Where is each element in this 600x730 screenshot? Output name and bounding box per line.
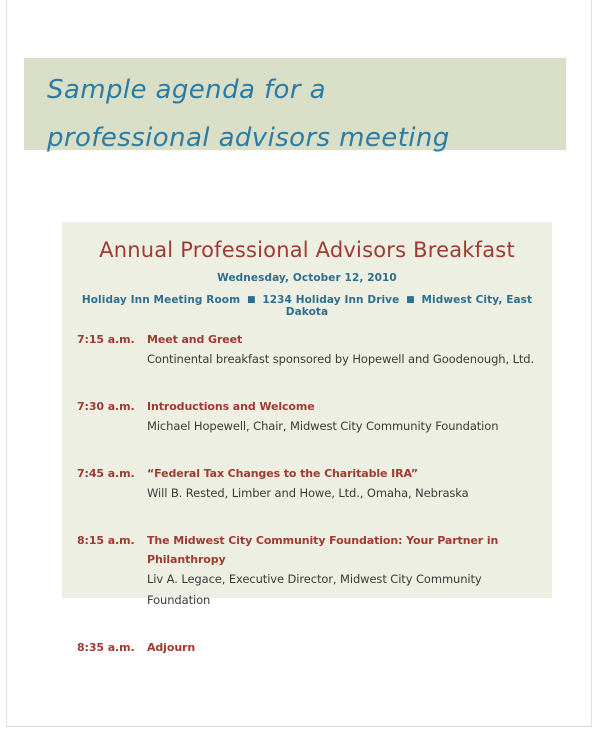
agenda-row-body: Introductions and Welcome Michael Hopewe… bbox=[147, 397, 547, 437]
agenda-row-time: 8:15 a.m. bbox=[77, 531, 147, 550]
agenda-row-body: “Federal Tax Changes to the Charitable I… bbox=[147, 464, 547, 504]
venue-part-room: Holiday Inn Meeting Room bbox=[82, 294, 240, 306]
document-page: Sample agenda for a professional advisor… bbox=[6, 0, 592, 727]
square-bullet-icon: ■ bbox=[403, 295, 418, 305]
agenda-row-title: Adjourn bbox=[147, 638, 547, 657]
agenda-rows: 7:15 a.m. Meet and Greet Continental bre… bbox=[77, 330, 547, 684]
agenda-row-time: 7:30 a.m. bbox=[77, 397, 147, 416]
square-bullet-icon: ■ bbox=[244, 295, 259, 305]
agenda-title: Annual Professional Advisors Breakfast bbox=[62, 238, 552, 262]
agenda-row: 7:45 a.m. “Federal Tax Changes to the Ch… bbox=[77, 464, 547, 504]
agenda-row-title: The Midwest City Community Foundation: Y… bbox=[147, 531, 547, 569]
agenda-venue: Holiday Inn Meeting Room ■ 1234 Holiday … bbox=[62, 294, 552, 318]
agenda-row-title: “Federal Tax Changes to the Charitable I… bbox=[147, 464, 547, 483]
agenda-row-title: Meet and Greet bbox=[147, 330, 547, 349]
agenda-row-body: The Midwest City Community Foundation: Y… bbox=[147, 531, 547, 611]
agenda-row: 7:15 a.m. Meet and Greet Continental bre… bbox=[77, 330, 547, 370]
agenda-row: 8:35 a.m. Adjourn bbox=[77, 638, 547, 657]
agenda-row: 7:30 a.m. Introductions and Welcome Mich… bbox=[77, 397, 547, 437]
agenda-row-desc: Will B. Rested, Limber and Howe, Ltd., O… bbox=[147, 483, 547, 504]
agenda-row-body: Meet and Greet Continental breakfast spo… bbox=[147, 330, 547, 370]
agenda-row-time: 7:15 a.m. bbox=[77, 330, 147, 349]
page-title: Sample agenda for a professional advisor… bbox=[47, 66, 567, 162]
agenda-row-desc: Continental breakfast sponsored by Hopew… bbox=[147, 349, 547, 370]
venue-part-street: 1234 Holiday Inn Drive bbox=[262, 294, 399, 306]
agenda-row-body: Adjourn bbox=[147, 638, 547, 657]
agenda-row-title: Introductions and Welcome bbox=[147, 397, 547, 416]
agenda-date: Wednesday, October 12, 2010 bbox=[62, 272, 552, 284]
agenda-row-desc: Michael Hopewell, Chair, Midwest City Co… bbox=[147, 416, 547, 437]
agenda-row-time: 7:45 a.m. bbox=[77, 464, 147, 483]
agenda-row-desc: Liv A. Legace, Executive Director, Midwe… bbox=[147, 569, 547, 611]
agenda-row-time: 8:35 a.m. bbox=[77, 638, 147, 657]
agenda-row: 8:15 a.m. The Midwest City Community Fou… bbox=[77, 531, 547, 611]
